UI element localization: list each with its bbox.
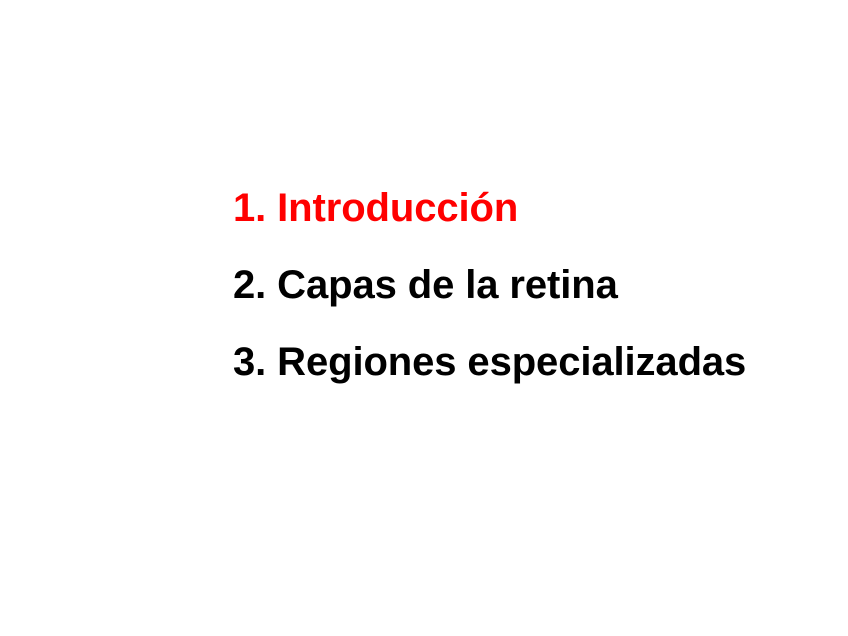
outline-item-1-label: 1. Introducción	[233, 186, 518, 230]
slide-canvas: 1. Introducción 2. Capas de la retina 3.…	[0, 0, 848, 636]
outline-item-2[interactable]: 2. Capas de la retina	[233, 263, 833, 340]
outline-item-1[interactable]: 1. Introducción	[233, 186, 833, 263]
outline-item-2-label: 2. Capas de la retina	[233, 263, 618, 307]
outline-item-3-label: 3. Regiones especializadas	[233, 340, 746, 384]
outline-list: 1. Introducción 2. Capas de la retina 3.…	[233, 186, 833, 417]
outline-item-3[interactable]: 3. Regiones especializadas	[233, 340, 833, 417]
